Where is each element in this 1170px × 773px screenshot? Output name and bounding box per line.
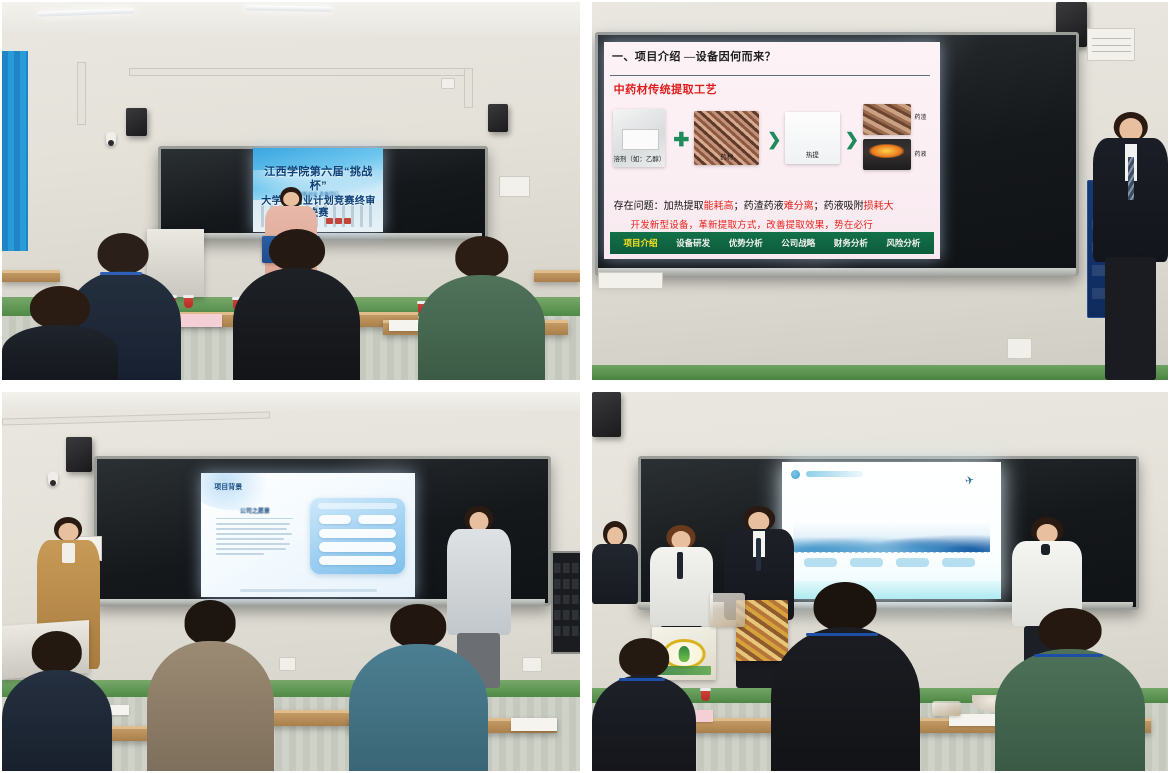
problem-statement: 存在问题：加热提取能耗高；药渣药液难分离；药液吸附损耗大 xyxy=(614,197,934,212)
tag-item xyxy=(942,558,975,567)
chalk-tray xyxy=(598,268,1076,276)
arrow-icon: ❯ xyxy=(767,131,781,148)
plus-icon: ✚ xyxy=(673,131,689,150)
tag-item xyxy=(804,558,837,567)
slide-heading-bar xyxy=(806,471,863,477)
paper-cup xyxy=(701,688,710,701)
nav-item-finance: 财务分析 xyxy=(834,237,868,249)
chalk-tray-notice xyxy=(598,272,663,289)
judge-figure xyxy=(592,638,696,771)
wall-speaker xyxy=(66,437,92,471)
paper-cup xyxy=(184,295,193,308)
nav-item-strategy: 公司战略 xyxy=(781,237,815,249)
sample-packet xyxy=(932,701,961,716)
audience-figure xyxy=(2,286,118,381)
brand-logo-icon xyxy=(791,470,800,479)
wall-socket xyxy=(279,657,296,671)
extract-liquid-image xyxy=(863,139,912,170)
process-label-solvent: 溶剂（如：乙醇） xyxy=(604,153,678,163)
judge-figure xyxy=(233,229,360,380)
wall-conduit xyxy=(464,68,473,108)
wall-socket xyxy=(1007,338,1032,359)
document-sheet xyxy=(511,718,557,731)
judge-figure xyxy=(2,631,112,771)
judge-figure xyxy=(349,604,488,771)
inner-shirt xyxy=(62,543,75,563)
surveillance-camera xyxy=(48,472,58,486)
brand-story-slide: ✈ xyxy=(782,462,1001,598)
pill-item xyxy=(319,542,396,551)
call-to-action: 开发新型设备，革新提取方式，改善提取效果，势在必行 xyxy=(630,217,930,231)
pill-item xyxy=(319,529,396,538)
company-profile-slide: 项目背景 公司之愿景 xyxy=(201,473,415,596)
side-desk xyxy=(2,270,60,281)
slide-divider xyxy=(610,75,930,76)
judge-figure xyxy=(995,608,1145,771)
sample-packet xyxy=(710,593,745,627)
output-label-residue: 药渣 xyxy=(914,112,926,121)
panel-bottom-left: 项目背景 公司之愿景 xyxy=(2,392,580,771)
landscape-illustration xyxy=(793,522,990,552)
projection-screen: 项目背景 公司之愿景 xyxy=(201,473,415,596)
project-intro-slide: 一、项目介绍 —设备因何而来？ 中药材传统提取工艺 溶剂（如：乙醇） ✚ 药材 xyxy=(604,42,941,259)
window-curtain xyxy=(2,51,28,251)
slide-footer-bar xyxy=(240,589,377,592)
wall-notice xyxy=(1087,28,1135,60)
process-label-herb: 药材 xyxy=(694,151,759,161)
necktie xyxy=(1128,157,1134,200)
wall-socket xyxy=(522,657,541,672)
slide-heading: 项目背景 xyxy=(214,482,242,492)
right-block-title-bar xyxy=(318,503,397,509)
presenter-figure xyxy=(1093,112,1168,380)
tag-item xyxy=(896,558,929,567)
process-label-heat: 热提 xyxy=(785,149,840,159)
output-label-liquid: 药液 xyxy=(914,149,926,158)
tag-item xyxy=(850,558,883,567)
wall-notice xyxy=(499,176,530,197)
judge-figure xyxy=(147,600,274,771)
wall-speaker-left xyxy=(126,108,147,136)
wall-conduit xyxy=(129,68,472,76)
left-block-title: 公司之愿景 xyxy=(216,506,293,515)
ceiling xyxy=(2,392,580,411)
wall-conduit xyxy=(77,62,86,124)
calendar-board xyxy=(551,551,580,654)
projection-screen: ✈ xyxy=(782,462,1001,598)
slide-subheading: 中药材传统提取工艺 xyxy=(614,81,718,97)
arrow-icon: ❯ xyxy=(845,131,859,148)
panel-bottom-right: ✈ xyxy=(592,392,1168,771)
slide-left-block: 公司之愿景 xyxy=(216,506,293,558)
slide-heading: 一、项目介绍 —设备因何而来？ xyxy=(612,48,776,64)
process-diagram: 溶剂（如：乙醇） ✚ 药材 ❯ 热提 ❯ xyxy=(610,109,933,192)
residue-image xyxy=(863,104,912,135)
photo-collage: 江西学院第六届“挑战杯” 大学生创业计划竞赛终审决赛 创新创业 青春同行 xyxy=(0,0,1170,773)
nav-item-advantage: 优势分析 xyxy=(729,237,763,249)
slide-divider xyxy=(795,552,988,553)
slide-right-block xyxy=(310,498,404,574)
wall-socket xyxy=(441,78,455,89)
ceiling-speaker xyxy=(592,392,621,437)
panel-top-right: 一、项目介绍 —设备因何而来？ 中药材传统提取工艺 溶剂（如：乙醇） ✚ 药材 xyxy=(592,2,1168,380)
surveillance-camera xyxy=(106,132,116,146)
nav-item-risk: 风险分析 xyxy=(886,237,920,249)
nav-item-project-intro: 项目介绍 xyxy=(624,237,658,249)
presenter-figure-far-left xyxy=(592,521,638,604)
judge-figure xyxy=(418,236,545,380)
nav-item-equipment-rnd: 设备研发 xyxy=(676,237,710,249)
slide-nav-bar: 项目介绍 设备研发 优势分析 公司战略 财务分析 风险分析 xyxy=(610,232,933,254)
panel-top-left: 江西学院第六届“挑战杯” 大学生创业计划竞赛终审决赛 创新创业 青春同行 xyxy=(2,2,580,380)
wall-speaker-right xyxy=(488,104,509,132)
projection-screen: 一、项目介绍 —设备因何而来？ 中药材传统提取工艺 溶剂（如：乙醇） ✚ 药材 xyxy=(604,42,941,259)
pill-item xyxy=(319,556,396,565)
pill-item xyxy=(358,515,397,524)
bird-icon: ✈ xyxy=(964,474,976,489)
pill-item xyxy=(319,515,351,524)
judge-figure xyxy=(771,582,921,772)
wall-wainscot xyxy=(592,365,1168,380)
